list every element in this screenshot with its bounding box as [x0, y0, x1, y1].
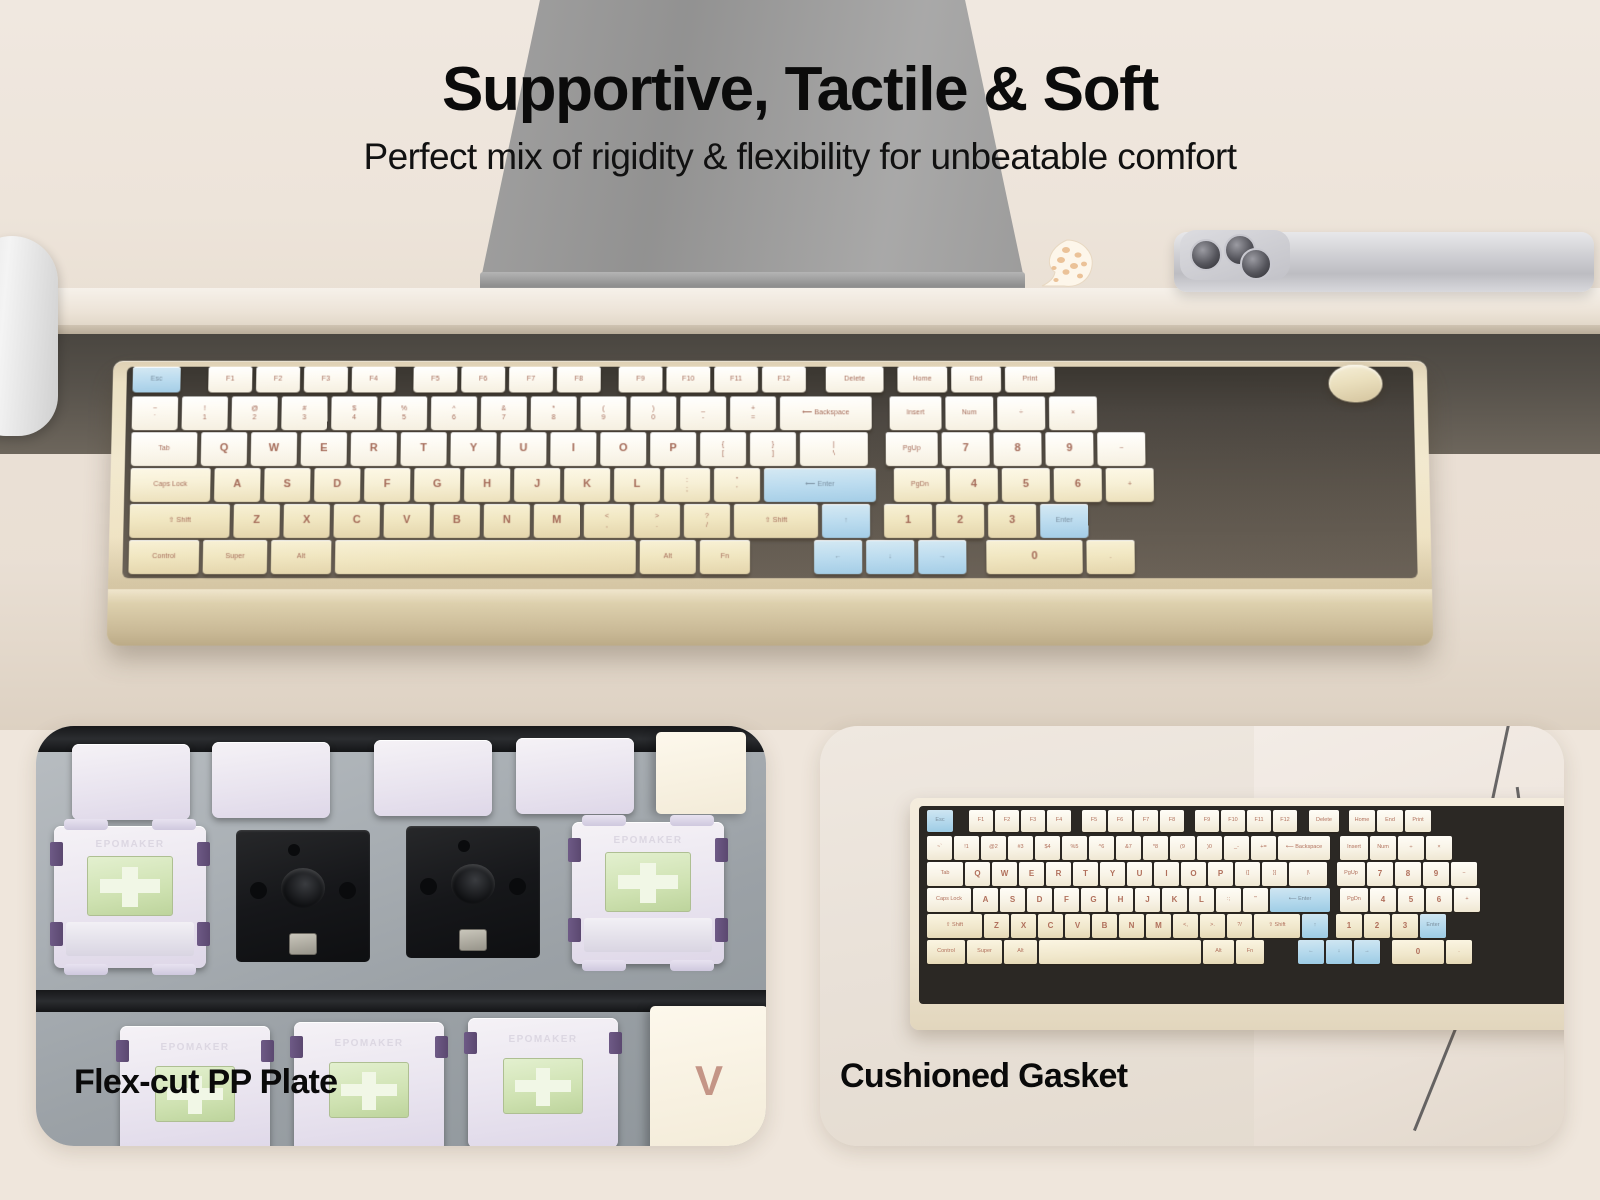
plate-switch-hole — [406, 826, 540, 958]
key-7[interactable]: &7 — [1116, 836, 1141, 860]
key-f3[interactable]: F3 — [1021, 810, 1045, 832]
key-space[interactable]: ?/ — [684, 504, 730, 538]
key-space[interactable]: . — [1086, 540, 1134, 574]
switch-leg — [568, 838, 581, 862]
switch-clip — [670, 960, 714, 971]
key-space[interactable]: + — [1106, 468, 1154, 502]
plate-pin-hole — [339, 882, 356, 899]
key-f[interactable]: F — [1054, 888, 1079, 912]
key-u[interactable]: U — [1127, 862, 1152, 886]
key-legend-top: * — [552, 406, 555, 413]
key-2[interactable]: 2 — [936, 504, 984, 538]
key-space[interactable]: "' — [1243, 888, 1268, 912]
switch-leg — [290, 1036, 303, 1058]
key-alt[interactable]: Alt — [640, 540, 696, 574]
switch-leg — [715, 918, 728, 942]
key-space[interactable]: → — [918, 540, 966, 574]
key-0[interactable]: )0 — [630, 396, 676, 430]
key-1[interactable]: 1 — [884, 504, 932, 538]
key-legend-bottom: ] — [772, 450, 774, 457]
camera-lens — [1190, 239, 1222, 271]
switch-leg — [261, 1040, 274, 1062]
plate-pin-hole — [420, 878, 437, 895]
caption-flex-cut-pp-plate: Flex-cut PP Plate — [74, 1063, 337, 1102]
key-p[interactable]: P — [1208, 862, 1233, 886]
key-f10[interactable]: F10 — [1221, 810, 1245, 832]
key-f[interactable]: F — [364, 468, 410, 502]
key-legend-bottom: 4 — [352, 414, 356, 421]
rotary-knob[interactable] — [1328, 365, 1383, 403]
key-w[interactable]: W — [251, 432, 298, 466]
key-d[interactable]: D — [1027, 888, 1052, 912]
key-8[interactable]: *8 — [1143, 836, 1168, 860]
key-legend-bottom: 0 — [651, 414, 655, 421]
switch-top — [516, 738, 634, 814]
key-space[interactable]: + — [1454, 888, 1480, 912]
key-control[interactable]: Control — [128, 540, 199, 574]
key-3[interactable]: 3 — [988, 504, 1036, 538]
key-f2[interactable]: F2 — [995, 810, 1019, 832]
key-legend-top: ? — [705, 513, 709, 520]
key-space[interactable]: <, — [584, 504, 630, 538]
key-print[interactable]: Print — [1005, 367, 1055, 393]
key-z[interactable]: Z — [233, 504, 280, 538]
key-shift[interactable]: ⇧ Shift — [927, 914, 982, 938]
key-0[interactable]: 0 — [1392, 940, 1444, 964]
key-4[interactable]: 4 — [950, 468, 998, 502]
switch-stem — [87, 856, 173, 916]
key-5[interactable]: %5 — [1062, 836, 1087, 860]
key-end[interactable]: End — [1377, 810, 1403, 832]
key-space[interactable]: ↑ — [822, 504, 870, 538]
key-9[interactable]: 9 — [1045, 432, 1093, 466]
key-l[interactable]: L — [1189, 888, 1214, 912]
key-space[interactable]: − — [1451, 862, 1477, 886]
key-u[interactable]: U — [500, 432, 546, 466]
key-space[interactable]: >. — [634, 504, 680, 538]
key-legend-bottom: 7 — [502, 414, 506, 421]
key-space[interactable]: <, — [1173, 914, 1198, 938]
key-space[interactable]: :; — [1216, 888, 1241, 912]
key-legend-top: ~ — [153, 406, 157, 413]
seashell-decoration — [1036, 238, 1098, 288]
key-space[interactable]: ↓ — [1326, 940, 1352, 964]
switch-clip — [582, 960, 626, 971]
key-9[interactable]: (9 — [580, 396, 626, 430]
stem-cross-horizontal — [618, 875, 678, 889]
key-space[interactable]: ← — [1298, 940, 1324, 964]
key-x[interactable]: X — [1011, 914, 1036, 938]
key-legend-bottom: 2 — [252, 414, 256, 421]
caption-cushioned-gasket: Cushioned Gasket — [840, 1057, 1127, 1096]
key-o[interactable]: O — [600, 432, 646, 466]
shelf-edge — [0, 325, 1600, 334]
key-legend-bottom: [ — [722, 450, 724, 457]
key-space[interactable]: ↑ — [1302, 914, 1328, 938]
key-y[interactable]: Y — [450, 432, 496, 466]
key-caps-lock[interactable]: Caps Lock — [927, 888, 971, 912]
key-t[interactable]: T — [1073, 862, 1098, 886]
key-c[interactable]: C — [1038, 914, 1063, 938]
key-f11[interactable]: F11 — [714, 367, 758, 393]
key-f1[interactable]: F1 — [969, 810, 993, 832]
key-enter[interactable]: ⟵ Enter — [764, 468, 876, 502]
key-legend-top: ! — [204, 406, 206, 413]
key-4[interactable]: $4 — [331, 396, 377, 430]
key-g[interactable]: G — [414, 468, 460, 502]
stem-cross-horizontal — [341, 1084, 397, 1096]
key-legend-top: | — [833, 441, 835, 448]
key-pgdn[interactable]: PgDn — [894, 468, 946, 502]
key-space[interactable]: {[ — [1235, 862, 1260, 886]
key-a[interactable]: A — [973, 888, 998, 912]
key-space[interactable]: . — [1446, 940, 1472, 964]
key-backspace[interactable]: ⟵ Backspace — [1278, 836, 1330, 860]
switch-clip — [152, 964, 196, 975]
key-f7[interactable]: F7 — [1134, 810, 1158, 832]
key-f3[interactable]: F3 — [304, 367, 348, 393]
key-space[interactable]: }] — [750, 432, 796, 466]
key-home[interactable]: Home — [1349, 810, 1375, 832]
stem-cross-horizontal — [515, 1080, 571, 1092]
key-q[interactable]: Q — [965, 862, 990, 886]
key-space[interactable]: ~` — [132, 396, 179, 430]
switch-leg — [116, 1040, 129, 1062]
key-f5[interactable]: F5 — [1082, 810, 1106, 832]
plate-switch-hole — [236, 830, 370, 962]
key-legend-bottom: , — [1186, 922, 1188, 928]
key-q[interactable]: Q — [201, 432, 248, 466]
key-f12[interactable]: F12 — [1273, 810, 1297, 832]
key-legend-top: < — [605, 513, 609, 520]
key-caps-lock[interactable]: Caps Lock — [130, 468, 211, 502]
key-legend-bottom: 1 — [203, 414, 207, 421]
key-space[interactable]: ?/ — [1227, 914, 1252, 938]
key-0[interactable]: )0 — [1197, 836, 1222, 860]
key-super[interactable]: Super — [967, 940, 1002, 964]
key-3[interactable]: #3 — [281, 396, 327, 430]
key-space[interactable]: |\ — [800, 432, 868, 466]
key-legend-top: % — [401, 406, 407, 413]
key-space[interactable]: += — [1251, 836, 1276, 860]
key-home[interactable]: Home — [897, 367, 947, 393]
key-delete[interactable]: Delete — [826, 367, 884, 393]
key-pgdn[interactable]: PgDn — [1340, 888, 1368, 912]
switch-brand-label: EPOMAKER — [509, 1034, 578, 1045]
key-space[interactable]: ← — [814, 540, 862, 574]
key-space[interactable]: ÷ — [997, 396, 1045, 430]
key-legend-bottom: 5 — [1075, 844, 1078, 850]
key-space[interactable]: :; — [664, 468, 710, 502]
key-v[interactable]: V — [384, 504, 430, 538]
key-legend-top: : — [686, 477, 688, 484]
key-space[interactable]: {[ — [700, 432, 746, 466]
switch-leg — [609, 1032, 622, 1054]
key-f12[interactable]: F12 — [762, 367, 806, 393]
key-d[interactable]: D — [314, 468, 360, 502]
switch-leg — [50, 842, 63, 866]
key-g[interactable]: G — [1081, 888, 1106, 912]
key-7[interactable]: 7 — [942, 432, 990, 466]
key-alt[interactable]: Alt — [1203, 940, 1234, 964]
key-l[interactable]: L — [614, 468, 660, 502]
key-legend-bottom: 6 — [1101, 844, 1104, 850]
key-space[interactable]: → — [1354, 940, 1380, 964]
key-x[interactable]: X — [283, 504, 330, 538]
key-shift[interactable]: ⇧ Shift — [129, 504, 230, 538]
key-1[interactable]: 1 — [1336, 914, 1362, 938]
switch-brand-label: EPOMAKER — [161, 1042, 230, 1053]
key-b[interactable]: B — [434, 504, 480, 538]
key-f6[interactable]: F6 — [461, 367, 505, 393]
key-insert[interactable]: Insert — [1340, 836, 1368, 860]
key-legend-bottom: ] — [1275, 870, 1277, 876]
switch-leg — [715, 838, 728, 862]
key-n[interactable]: N — [484, 504, 530, 538]
key-enter[interactable]: Enter — [1420, 914, 1446, 938]
key-esc[interactable]: Esc — [132, 367, 180, 393]
key-delete[interactable]: Delete — [1309, 810, 1339, 832]
key-i[interactable]: I — [1154, 862, 1179, 886]
key-legend-top: # — [302, 406, 306, 413]
key-9[interactable]: (9 — [1170, 836, 1195, 860]
key-3[interactable]: #3 — [1008, 836, 1033, 860]
key-shift[interactable]: ⇧ Shift — [734, 504, 818, 538]
key-space[interactable]: × — [1426, 836, 1452, 860]
key-alt[interactable]: Alt — [271, 540, 332, 574]
switch-stem — [605, 852, 691, 912]
switch-brand-label: EPOMAKER — [335, 1038, 404, 1049]
key-f8[interactable]: F8 — [1160, 810, 1184, 832]
key-shift[interactable]: ⇧ Shift — [1254, 914, 1300, 938]
key-s[interactable]: S — [1000, 888, 1025, 912]
key-f11[interactable]: F11 — [1247, 810, 1271, 832]
key-space[interactable]: }] — [1262, 862, 1287, 886]
key-1[interactable]: !1 — [954, 836, 979, 860]
phone-camera-module — [1180, 230, 1290, 280]
key-space[interactable] — [1039, 940, 1201, 964]
key-f4[interactable]: F4 — [1047, 810, 1071, 832]
key-6[interactable]: 6 — [1054, 468, 1102, 502]
switch-leg — [197, 922, 210, 946]
key-2[interactable]: @2 — [231, 396, 277, 430]
key-f2[interactable]: F2 — [256, 367, 300, 393]
key-2[interactable]: @2 — [981, 836, 1006, 860]
key-m[interactable]: M — [1146, 914, 1171, 938]
key-f9[interactable]: F9 — [1195, 810, 1219, 832]
key-r[interactable]: R — [1046, 862, 1071, 886]
key-control[interactable]: Control — [927, 940, 965, 964]
key-6[interactable]: ^6 — [1089, 836, 1114, 860]
switch-top — [374, 740, 492, 816]
key-8[interactable]: 8 — [993, 432, 1041, 466]
key-alt[interactable]: Alt — [1004, 940, 1037, 964]
key-a[interactable]: A — [214, 468, 261, 502]
key-legend-bottom: 9 — [601, 414, 605, 421]
key-legend-bottom: - — [702, 414, 704, 421]
key-end[interactable]: End — [951, 367, 1001, 393]
switch-brand-label: EPOMAKER — [614, 835, 683, 846]
key-e[interactable]: E — [1019, 862, 1044, 886]
key-legend-bottom: . — [1213, 922, 1215, 928]
key-legend-bottom: \ — [1308, 870, 1310, 876]
keycap-partial — [656, 732, 746, 814]
key-space[interactable]: − — [1097, 432, 1145, 466]
plate-center-pin-hole — [281, 868, 325, 908]
switch-epomaker-right: EPOMAKER — [572, 822, 724, 964]
plate-led — [459, 929, 487, 951]
key-5[interactable]: 5 — [1398, 888, 1424, 912]
key-f6[interactable]: F6 — [1108, 810, 1132, 832]
key-space[interactable] — [335, 540, 636, 574]
key-r[interactable]: R — [351, 432, 397, 466]
key-i[interactable]: I — [550, 432, 596, 466]
key-s[interactable]: S — [264, 468, 311, 502]
key-m[interactable]: M — [534, 504, 580, 538]
key-space[interactable]: "' — [714, 468, 760, 502]
key-7[interactable]: &7 — [481, 396, 527, 430]
key-insert[interactable]: Insert — [890, 396, 942, 430]
key-legend-bottom: 3 — [302, 414, 306, 421]
key-w[interactable]: W — [992, 862, 1017, 886]
plate-center-pin-hole — [451, 864, 495, 904]
key-5[interactable]: 5 — [1002, 468, 1050, 502]
key-legend-top: ( — [602, 406, 604, 413]
switch-top — [72, 744, 190, 820]
plate-pin-hole — [509, 878, 526, 895]
key-v[interactable]: V — [1065, 914, 1090, 938]
key-pgup[interactable]: PgUp — [1337, 862, 1365, 886]
key-fn[interactable]: Fn — [700, 540, 750, 574]
key-3[interactable]: 3 — [1392, 914, 1418, 938]
key-enter[interactable]: Enter — [1040, 504, 1088, 538]
key-f1[interactable]: F1 — [208, 367, 252, 393]
key-b[interactable]: B — [1092, 914, 1117, 938]
key-legend-bottom: 8 — [1155, 844, 1158, 850]
key-tab[interactable]: Tab — [131, 432, 198, 466]
switch-clip — [64, 964, 108, 975]
key-space[interactable]: |\ — [1289, 862, 1327, 886]
key-9[interactable]: 9 — [1423, 862, 1449, 886]
keyboard-front-lip — [107, 589, 1434, 645]
main-keyboard: EscF1F2F3F4F5F6F7F8F9F10F11F12DeleteHome… — [107, 361, 1434, 646]
key-space[interactable]: >. — [1200, 914, 1225, 938]
key-super[interactable]: Super — [203, 540, 268, 574]
key-e[interactable]: E — [301, 432, 347, 466]
key-fn[interactable]: Fn — [1236, 940, 1264, 964]
key-legend-top: > — [655, 513, 659, 520]
key-num[interactable]: Num — [1370, 836, 1396, 860]
switch-base-window — [584, 918, 712, 952]
full-keyboard-deck: EscF1F2F3F4F5F6F7F8F9F10F11F12DeleteHome… — [919, 806, 1564, 1004]
key-f8[interactable]: F8 — [557, 367, 601, 393]
key-j[interactable]: J — [514, 468, 560, 502]
full-keyboard: EscF1F2F3F4F5F6F7F8F9F10F11F12DeleteHome… — [910, 798, 1564, 1030]
key-backspace[interactable]: ⟵ Backspace — [780, 396, 872, 430]
switch-base-window — [66, 922, 194, 956]
key-h[interactable]: H — [464, 468, 510, 502]
key-j[interactable]: J — [1135, 888, 1160, 912]
key-legend-top: ^ — [452, 406, 455, 413]
key-legend-top: ) — [652, 406, 654, 413]
switch-brand-label: EPOMAKER — [96, 839, 165, 850]
plate-pin-hole — [250, 882, 267, 899]
key-5[interactable]: %5 — [381, 396, 427, 430]
key-4[interactable]: $4 — [1035, 836, 1060, 860]
key-tab[interactable]: Tab — [927, 862, 963, 886]
keycap-v: V — [650, 1006, 766, 1146]
switch-clip — [64, 819, 108, 830]
key-legend-bottom: 3 — [1021, 844, 1024, 850]
key-pgup[interactable]: PgUp — [886, 432, 938, 466]
key-8[interactable]: *8 — [531, 396, 577, 430]
plate-pin-hole — [288, 844, 300, 856]
key-7[interactable]: 7 — [1367, 862, 1393, 886]
key-space[interactable]: ~` — [927, 836, 952, 860]
key-num[interactable]: Num — [945, 396, 993, 430]
key-legend-bottom: 4 — [1048, 844, 1051, 850]
switch-clip — [582, 815, 626, 826]
key-legend-top: " — [736, 477, 739, 484]
key-legend-bottom: [ — [1248, 870, 1250, 876]
key-6[interactable]: 6 — [1426, 888, 1452, 912]
key-z[interactable]: Z — [984, 914, 1009, 938]
switch-leg — [50, 922, 63, 946]
key-f7[interactable]: F7 — [509, 367, 553, 393]
key-0[interactable]: 0 — [986, 540, 1082, 574]
key-c[interactable]: C — [333, 504, 380, 538]
key-esc[interactable]: Esc — [927, 810, 953, 832]
key-6[interactable]: ^6 — [431, 396, 477, 430]
key-print[interactable]: Print — [1405, 810, 1431, 832]
key-y[interactable]: Y — [1100, 862, 1125, 886]
key-legend-bottom: ; — [1229, 896, 1231, 902]
switch-clip — [152, 819, 196, 830]
switch-leg — [197, 842, 210, 866]
key-8[interactable]: 8 — [1395, 862, 1421, 886]
key-legend-top: @ — [251, 406, 258, 413]
key-legend-bottom: 2 — [995, 844, 998, 850]
key-f9[interactable]: F9 — [619, 367, 663, 393]
key-legend-bottom: ' — [736, 486, 737, 493]
key-4[interactable]: 4 — [1370, 888, 1396, 912]
key-legend-bottom: / — [1240, 922, 1242, 928]
key-o[interactable]: O — [1181, 862, 1206, 886]
key-space[interactable]: ↓ — [866, 540, 914, 574]
key-f5[interactable]: F5 — [413, 367, 457, 393]
key-space[interactable]: × — [1049, 396, 1097, 430]
key-space[interactable]: ÷ — [1398, 836, 1424, 860]
key-k[interactable]: K — [564, 468, 610, 502]
key-enter[interactable]: ⟵ Enter — [1270, 888, 1330, 912]
key-space[interactable]: _- — [680, 396, 726, 430]
key-space[interactable]: _- — [1224, 836, 1249, 860]
key-k[interactable]: K — [1162, 888, 1187, 912]
plate-pin-hole — [458, 840, 470, 852]
key-f10[interactable]: F10 — [666, 367, 710, 393]
key-t[interactable]: T — [400, 432, 446, 466]
switch-clip — [670, 815, 714, 826]
key-p[interactable]: P — [650, 432, 696, 466]
key-legend-top: & — [501, 406, 506, 413]
key-n[interactable]: N — [1119, 914, 1144, 938]
key-space[interactable]: += — [730, 396, 776, 430]
key-h[interactable]: H — [1108, 888, 1133, 912]
key-f4[interactable]: F4 — [352, 367, 396, 393]
key-1[interactable]: !1 — [181, 396, 228, 430]
key-legend-bottom: ' — [1256, 896, 1257, 902]
key-2[interactable]: 2 — [1364, 914, 1390, 938]
